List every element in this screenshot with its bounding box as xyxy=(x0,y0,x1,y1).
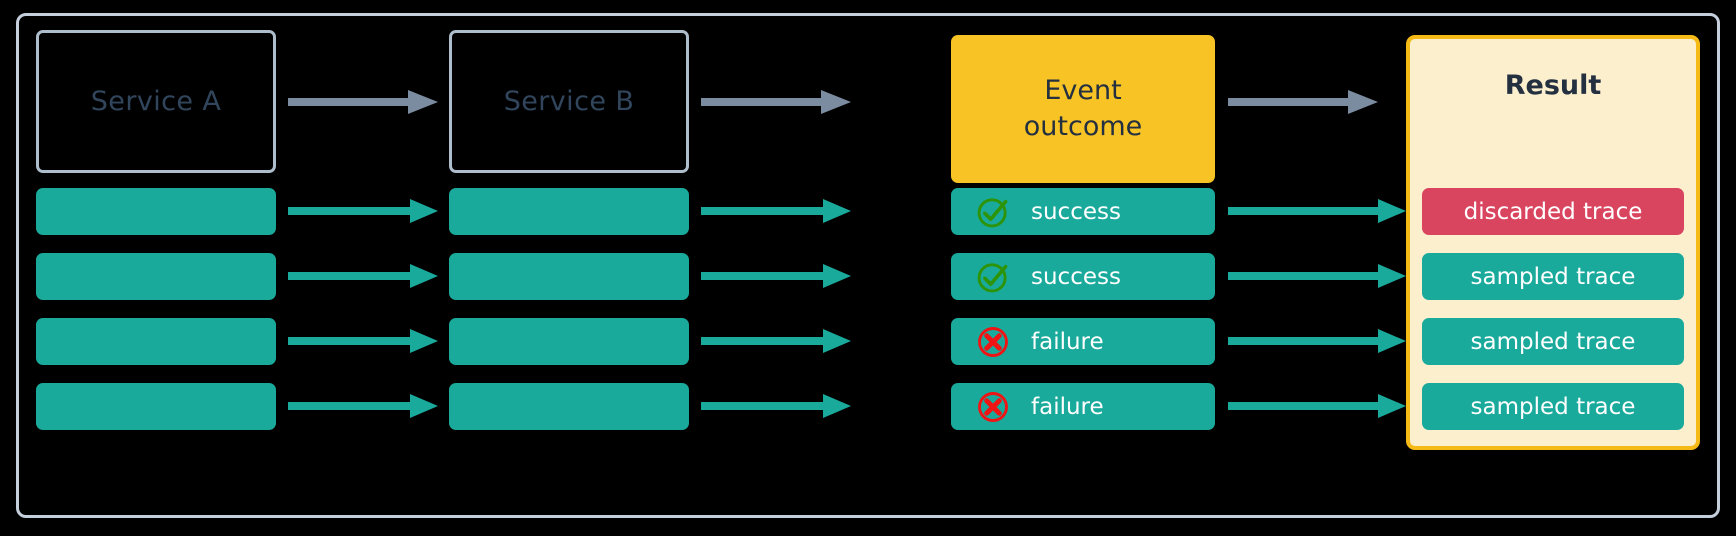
row-4-arrow-event-to-result xyxy=(1228,394,1406,418)
table-row-2-outcome-label: success xyxy=(1031,264,1121,290)
event-outcome-box: Event outcome xyxy=(951,35,1215,183)
table-row-1-outcome-label: success xyxy=(1031,199,1121,225)
row-1-arrow-b-to-event xyxy=(701,199,851,223)
service-b-label: Service B xyxy=(504,86,635,117)
header-arrow-a-to-b xyxy=(288,88,438,116)
table-row-4-outcome-bar: failure xyxy=(951,383,1215,430)
event-outcome-label-line1: Event xyxy=(1044,73,1121,109)
x-circle-icon xyxy=(975,324,1011,360)
row-1-arrow-event-to-result xyxy=(1228,199,1406,223)
service-a-box: Service A xyxy=(36,30,276,173)
service-a-label: Service A xyxy=(91,86,221,117)
table-row-1-service-b-bar xyxy=(449,188,689,235)
table-row-4-outcome-label: failure xyxy=(1031,394,1104,420)
table-row-4-service-b-bar xyxy=(449,383,689,430)
table-row-4-service-a-bar xyxy=(36,383,276,430)
row-1-arrow-a-to-b xyxy=(288,199,438,223)
row-3-arrow-b-to-event xyxy=(701,329,851,353)
header-arrow-b-to-event xyxy=(701,88,851,116)
table-row-2-result-bar: sampled trace xyxy=(1422,253,1684,300)
table-row-3-outcome-label: failure xyxy=(1031,329,1104,355)
row-2-arrow-b-to-event xyxy=(701,264,851,288)
table-row-3-outcome-bar: failure xyxy=(951,318,1215,365)
table-row-1-service-a-bar xyxy=(36,188,276,235)
result-panel-title: Result xyxy=(1410,70,1696,101)
diagram-canvas: Service A Service B Event outcome Result… xyxy=(0,0,1736,536)
row-2-arrow-event-to-result xyxy=(1228,264,1406,288)
check-circle-icon xyxy=(975,194,1011,230)
table-row-3-service-a-bar xyxy=(36,318,276,365)
table-row-1-result-label: discarded trace xyxy=(1464,199,1643,225)
table-row-2-outcome-bar: success xyxy=(951,253,1215,300)
header-arrow-event-to-result xyxy=(1228,88,1378,116)
table-row-2-service-b-bar xyxy=(449,253,689,300)
row-4-arrow-b-to-event xyxy=(701,394,851,418)
row-4-arrow-a-to-b xyxy=(288,394,438,418)
event-outcome-label-line2: outcome xyxy=(1024,109,1143,145)
check-circle-icon xyxy=(975,259,1011,295)
service-b-box: Service B xyxy=(449,30,689,173)
table-row-3-result-bar: sampled trace xyxy=(1422,318,1684,365)
table-row-2-service-a-bar xyxy=(36,253,276,300)
x-circle-icon xyxy=(975,389,1011,425)
row-3-arrow-event-to-result xyxy=(1228,329,1406,353)
table-row-4-result-bar: sampled trace xyxy=(1422,383,1684,430)
row-2-arrow-a-to-b xyxy=(288,264,438,288)
table-row-1-outcome-bar: success xyxy=(951,188,1215,235)
row-3-arrow-a-to-b xyxy=(288,329,438,353)
table-row-3-service-b-bar xyxy=(449,318,689,365)
table-row-2-result-label: sampled trace xyxy=(1471,264,1636,290)
table-row-4-result-label: sampled trace xyxy=(1471,394,1636,420)
table-row-3-result-label: sampled trace xyxy=(1471,329,1636,355)
table-row-1-result-bar: discarded trace xyxy=(1422,188,1684,235)
